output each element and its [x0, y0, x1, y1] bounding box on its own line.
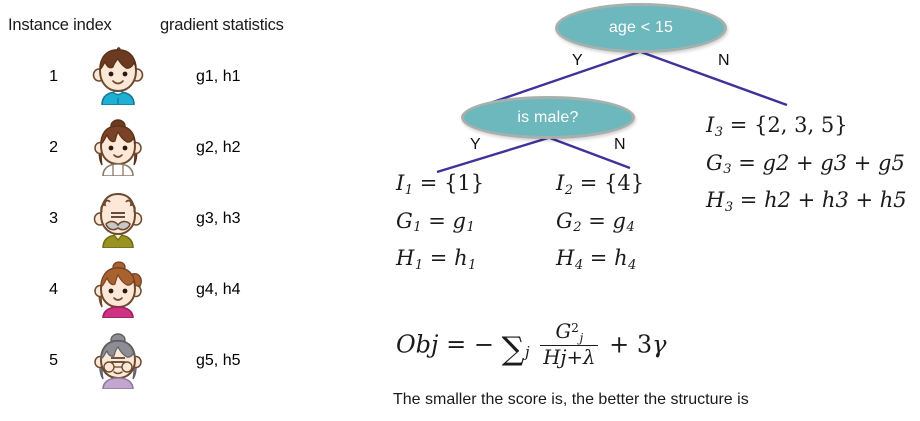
- leaf3-g-name: G: [706, 151, 723, 175]
- tree-node-is-male[interactable]: is male?: [461, 96, 635, 139]
- leaf1-h-name: H: [396, 246, 414, 270]
- leaf1-g-value: g: [453, 209, 466, 233]
- leaf1-h-line: H1 = h1: [396, 243, 484, 281]
- summation-symbol: ∑: [502, 330, 525, 368]
- girl-ponytail-avatar-svg: [90, 260, 146, 318]
- leaf2-g-name: G: [556, 209, 573, 233]
- leaf2-g-value: g: [613, 209, 626, 233]
- leaf3-set-line: I3 = {2, 3, 5}: [706, 110, 907, 148]
- edge-label-root-no: N: [718, 52, 730, 70]
- column-header-instance-index: Instance index: [8, 16, 112, 35]
- edge-child-yes: [437, 138, 548, 172]
- girl-ponytail-avatar: [90, 260, 146, 323]
- old-woman-avatar: [90, 331, 146, 394]
- leaf1-equations: I1 = {1} G1 = g1 H1 = h1: [396, 168, 484, 281]
- objective-tail-symbol: γ: [652, 331, 666, 359]
- leaf1-g-name: G: [396, 209, 413, 233]
- summary-caption: The smaller the score is, the better the…: [393, 391, 749, 409]
- edge-label-root-yes: Y: [572, 52, 583, 70]
- row-index-4: 4: [38, 281, 58, 299]
- objective-num-var: G: [555, 320, 571, 343]
- leaf3-h-name: H: [706, 188, 724, 212]
- leaf2-g-sub: 2: [573, 220, 581, 235]
- objective-minus: −: [474, 331, 494, 359]
- leaf3-g-line: G3 = g2 + g3 + g5: [706, 148, 907, 186]
- objective-num-sup: 2: [571, 321, 579, 335]
- objective-lhs: Obj: [396, 331, 438, 359]
- row-index-5: 5: [38, 352, 58, 370]
- leaf1-set-value: {1}: [444, 171, 484, 195]
- row-stats-5: g5, h5: [196, 352, 240, 370]
- boy-avatar-svg: [90, 47, 146, 105]
- objective-formula: Obj = − ∑j G2j Hj+λ + 3γ: [396, 322, 666, 370]
- leaf1-h-value: h: [454, 246, 468, 270]
- leaf1-h-value-sub: 1: [468, 258, 476, 273]
- leaf3-h-line: H3 = h2 + h3 + h5: [706, 185, 907, 223]
- edge-label-child-yes: Y: [470, 136, 481, 154]
- objective-tail-num: 3: [637, 331, 652, 359]
- edge-root-yes: [490, 52, 639, 103]
- objective-fraction: G2j Hj+λ: [540, 321, 598, 369]
- girl-bun-avatar: [90, 118, 146, 181]
- leaf2-set-value: {4}: [604, 171, 644, 195]
- objective-plus: +: [609, 331, 629, 359]
- edge-root-no: [641, 52, 787, 105]
- leaf2-set-name: I: [556, 171, 564, 195]
- leaf3-set-value: {2, 3, 5}: [754, 113, 848, 137]
- leaf3-equations: I3 = {2, 3, 5} G3 = g2 + g3 + g5 H3 = h2…: [706, 110, 907, 223]
- leaf2-set-sub: 2: [565, 183, 573, 198]
- leaf2-h-name: H: [556, 246, 574, 270]
- leaf3-h-terms: h2 + h3 + h5: [764, 188, 907, 212]
- edge-label-child-no: N: [614, 136, 626, 154]
- row-index-3: 3: [38, 210, 58, 228]
- leaf1-set-name: I: [396, 171, 404, 195]
- leaf2-h-sub: 4: [575, 258, 583, 273]
- row-index-1: 1: [38, 68, 58, 86]
- tree-node-root[interactable]: age < 15: [555, 3, 727, 53]
- objective-equals: =: [446, 331, 466, 359]
- leaf2-h-line: H4 = h4: [556, 243, 644, 281]
- leaf2-h-value: h: [614, 246, 628, 270]
- old-man-avatar: [90, 190, 146, 253]
- summation-index: j: [525, 343, 530, 361]
- row-stats-3: g3, h3: [196, 210, 240, 228]
- girl-bun-avatar-svg: [90, 118, 146, 176]
- leaf3-g-terms: g2 + g3 + g5: [763, 151, 905, 175]
- old-woman-avatar-svg: [90, 331, 146, 389]
- column-header-gradient-statistics: gradient statistics: [160, 16, 284, 35]
- leaf3-h-sub: 3: [725, 200, 733, 215]
- leaf2-g-value-sub: 4: [627, 220, 635, 235]
- leaf3-g-sub: 3: [723, 162, 731, 177]
- row-stats-2: g2, h2: [196, 139, 240, 157]
- leaf1-set-sub: 1: [405, 183, 413, 198]
- row-index-2: 2: [38, 139, 58, 157]
- old-man-avatar-svg: [90, 190, 146, 248]
- leaf1-g-sub: 1: [413, 220, 421, 235]
- row-stats-1: g1, h1: [196, 68, 240, 86]
- leaf2-g-line: G2 = g4: [556, 206, 644, 244]
- leaf1-h-sub: 1: [415, 258, 423, 273]
- tree-node-root-label: age < 15: [609, 19, 673, 37]
- boy-avatar: [90, 47, 146, 110]
- leaf1-set-line: I1 = {1}: [396, 168, 484, 206]
- leaf2-h-value-sub: 4: [628, 258, 636, 273]
- tree-node-is-male-label: is male?: [517, 109, 578, 127]
- objective-denominator: Hj+λ: [540, 346, 598, 370]
- leaf1-g-line: G1 = g1: [396, 206, 484, 244]
- leaf2-set-line: I2 = {4}: [556, 168, 644, 206]
- objective-numerator: G2j: [540, 321, 598, 346]
- leaf3-set-name: I: [706, 113, 714, 137]
- leaf1-g-value-sub: 1: [467, 220, 475, 235]
- objective-num-sub: j: [579, 331, 583, 345]
- row-stats-4: g4, h4: [196, 281, 240, 299]
- leaf3-set-sub: 3: [715, 125, 723, 140]
- leaf2-equations: I2 = {4} G2 = g4 H4 = h4: [556, 168, 644, 281]
